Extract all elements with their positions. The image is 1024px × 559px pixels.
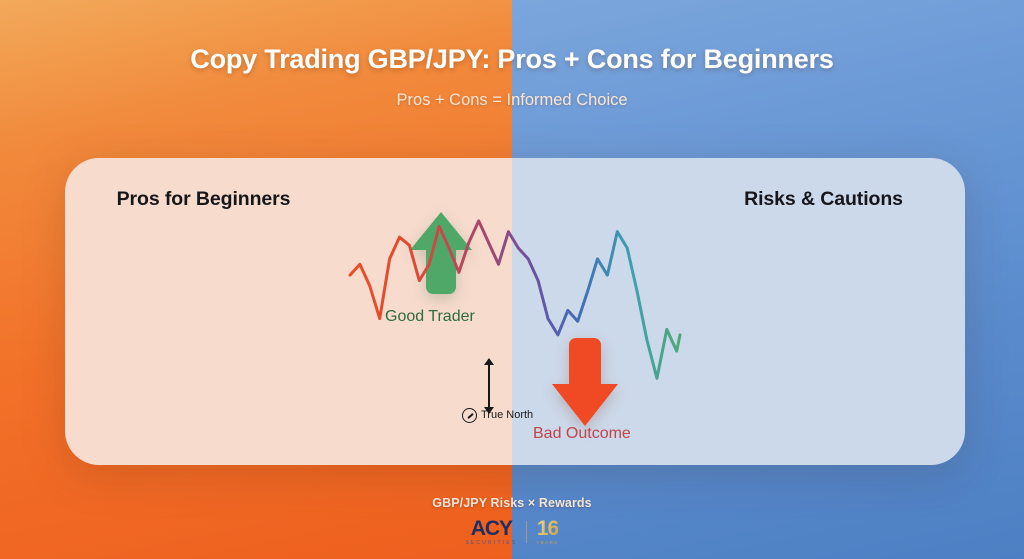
anniversary-sub: YEARS: [536, 541, 558, 546]
acy-logo-sub: SECURITIES: [465, 541, 517, 546]
brand-logo: ACY SECURITIES 16 YEARS: [0, 518, 1024, 546]
acy-logo: ACY SECURITIES: [465, 518, 517, 546]
anniversary-number: 16: [537, 518, 558, 539]
chart-line-series: [350, 221, 680, 378]
logo-divider: [526, 521, 527, 543]
footer-tagline: GBP/JPY Risks × Rewards: [0, 496, 1024, 510]
true-north-label: True North: [481, 409, 533, 421]
bad-outcome-label: Bad Outcome: [533, 425, 631, 443]
price-chart: Good Trader Bad Outcome True North: [330, 180, 690, 470]
header: Copy Trading GBP/JPY: Pros + Cons for Be…: [0, 44, 1024, 110]
page-title: Copy Trading GBP/JPY: Pros + Cons for Be…: [0, 44, 1024, 75]
page-subtitle: Pros + Cons = Informed Choice: [0, 91, 1024, 110]
vertical-double-arrow-icon: [488, 364, 490, 408]
acy-logo-mark: ACY: [471, 518, 512, 539]
compass-icon: [462, 408, 477, 423]
chart-svg: [330, 180, 690, 470]
footer: GBP/JPY Risks × Rewards ACY SECURITIES 1…: [0, 496, 1024, 546]
anniversary-logo: 16 YEARS: [536, 518, 558, 546]
true-north-annotation: True North: [448, 364, 558, 426]
good-trader-label: Good Trader: [385, 308, 475, 326]
